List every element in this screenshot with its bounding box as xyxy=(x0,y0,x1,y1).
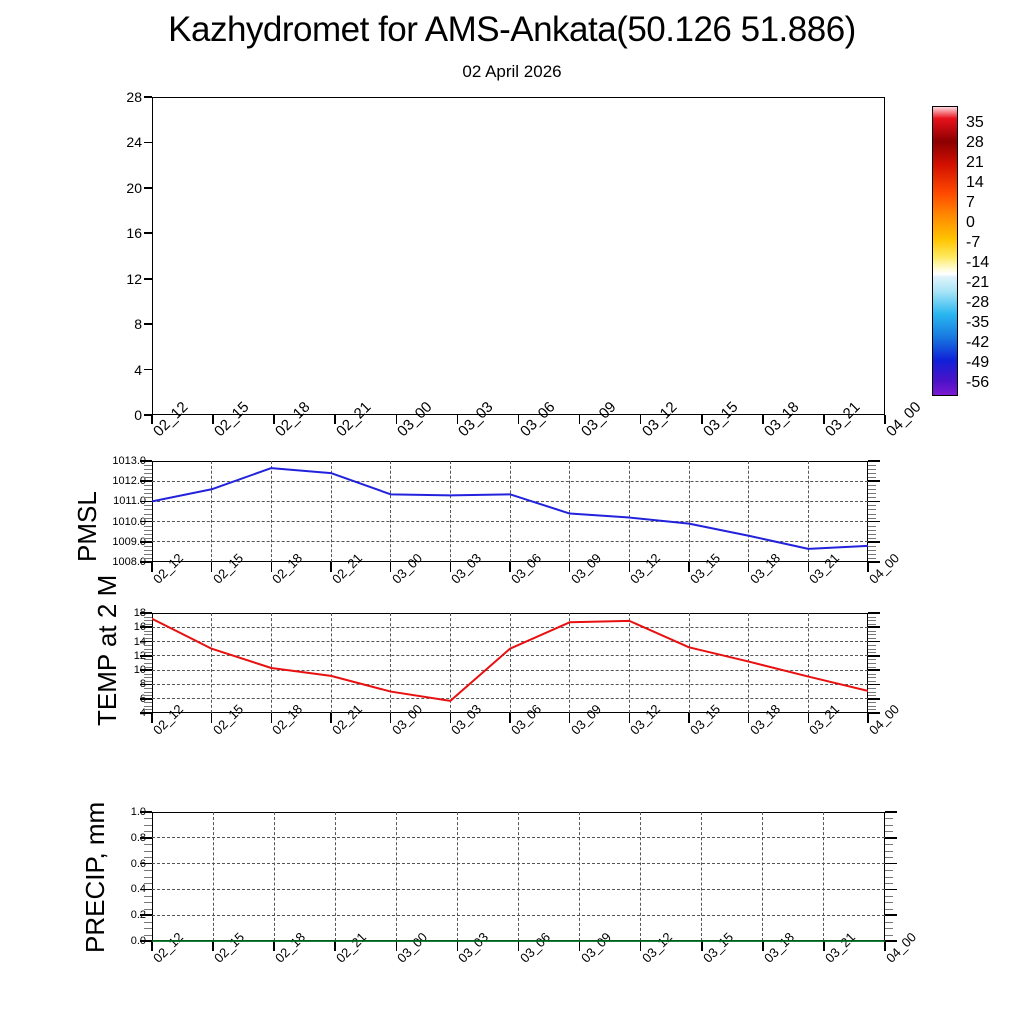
y-minor-tick xyxy=(144,857,152,858)
y-minor-tick xyxy=(885,851,893,852)
y-minor-tick xyxy=(144,844,152,845)
y-minor-tick xyxy=(144,851,152,852)
vertical-gridline xyxy=(823,812,824,941)
y-major-tick xyxy=(140,811,152,813)
y-minor-tick xyxy=(885,909,893,910)
x-tick xyxy=(518,941,520,951)
y-minor-tick xyxy=(144,935,152,936)
y-minor-tick xyxy=(144,877,152,878)
x-tick xyxy=(884,941,886,951)
x-tick xyxy=(579,941,581,951)
vertical-gridline xyxy=(213,812,214,941)
y-minor-tick xyxy=(885,928,893,929)
y-minor-tick xyxy=(144,883,152,884)
y-minor-tick xyxy=(144,902,152,903)
y-major-tick xyxy=(140,889,152,891)
y-minor-tick xyxy=(885,857,893,858)
x-tick xyxy=(762,941,764,951)
y-major-tick xyxy=(885,811,897,813)
x-tick xyxy=(334,941,336,951)
y-major-tick xyxy=(885,914,897,916)
vertical-gridline xyxy=(457,812,458,941)
y-minor-tick xyxy=(885,844,893,845)
y-major-tick xyxy=(885,863,897,865)
y-minor-tick xyxy=(885,935,893,936)
precip-axis-title: PRECIP, mm xyxy=(80,802,111,953)
x-tick xyxy=(640,941,642,951)
y-minor-tick xyxy=(144,922,152,923)
x-tick xyxy=(151,941,153,951)
y-minor-tick xyxy=(885,896,893,897)
vertical-gridline xyxy=(762,812,763,941)
y-minor-tick xyxy=(885,825,893,826)
x-tick xyxy=(273,941,275,951)
vertical-gridline xyxy=(396,812,397,941)
y-minor-tick xyxy=(885,870,893,871)
x-tick xyxy=(701,941,703,951)
y-major-tick xyxy=(885,889,897,891)
y-minor-tick xyxy=(144,831,152,832)
y-minor-tick xyxy=(144,870,152,871)
x-tick xyxy=(396,941,398,951)
y-minor-tick xyxy=(885,922,893,923)
y-major-tick xyxy=(140,863,152,865)
y-major-tick xyxy=(140,837,152,839)
meteogram-page: Kazhydromet for AMS-Ankata(50.126 51.886… xyxy=(0,0,1024,1024)
y-major-tick xyxy=(140,940,152,942)
x-tick xyxy=(457,941,459,951)
y-minor-tick xyxy=(885,818,893,819)
vertical-gridline xyxy=(518,812,519,941)
x-tick xyxy=(212,941,214,951)
y-minor-tick xyxy=(144,909,152,910)
vertical-gridline xyxy=(274,812,275,941)
x-tick xyxy=(823,941,825,951)
y-major-tick xyxy=(140,914,152,916)
y-minor-tick xyxy=(885,831,893,832)
y-minor-tick xyxy=(885,877,893,878)
y-minor-tick xyxy=(144,825,152,826)
vertical-gridline xyxy=(640,812,641,941)
precip-panel[interactable]: PRECIP, mm0.00.20.40.60.81.002_1202_1502… xyxy=(0,0,1024,1024)
y-minor-tick xyxy=(144,928,152,929)
vertical-gridline xyxy=(701,812,702,941)
y-minor-tick xyxy=(144,818,152,819)
y-minor-tick xyxy=(885,883,893,884)
y-major-tick xyxy=(885,837,897,839)
vertical-gridline xyxy=(335,812,336,941)
vertical-gridline xyxy=(579,812,580,941)
y-minor-tick xyxy=(144,896,152,897)
y-minor-tick xyxy=(885,902,893,903)
